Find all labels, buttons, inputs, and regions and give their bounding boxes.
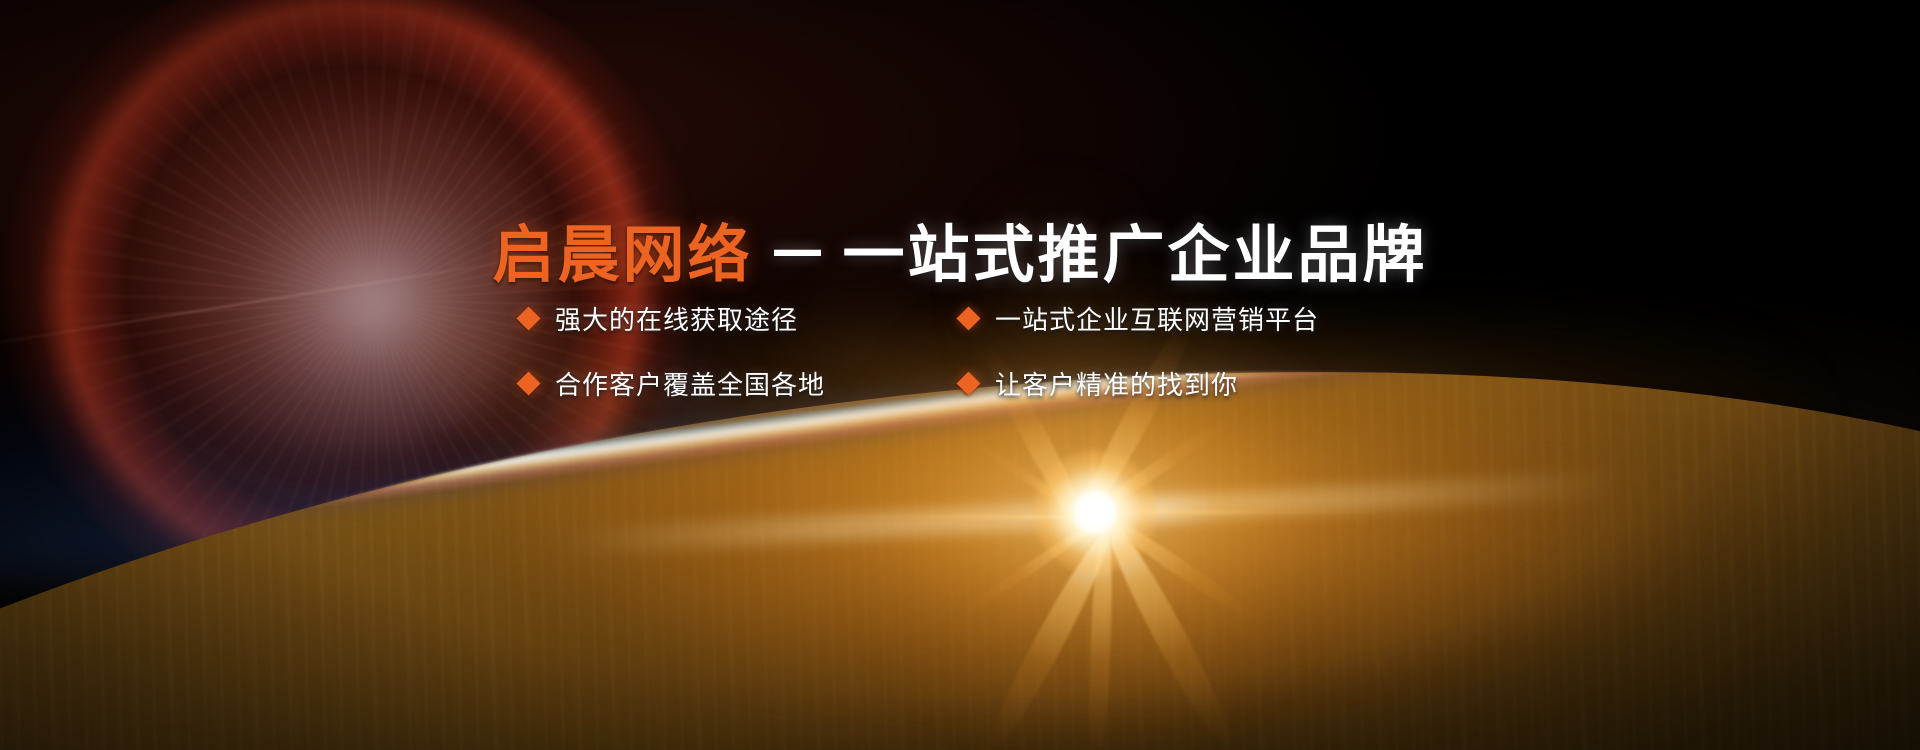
hero-banner: 启晨网络－一站式推广企业品牌 强大的在线获取途径 一站式企业互联网营销平台 合作… (0, 0, 1920, 750)
banner-content: 启晨网络－一站式推广企业品牌 强大的在线获取途径 一站式企业互联网营销平台 合作… (0, 0, 1920, 750)
feature-item-4: 让客户精准的找到你 (960, 365, 1400, 402)
diamond-icon (956, 371, 980, 395)
page-title: 启晨网络－一站式推广企业品牌 (0, 220, 1920, 292)
feature-label: 合作客户覆盖全国各地 (555, 365, 825, 402)
feature-list: 强大的在线获取途径 一站式企业互联网营销平台 合作客户覆盖全国各地 让客户精准的… (520, 300, 1400, 402)
feature-item-1: 强大的在线获取途径 (520, 300, 960, 337)
diamond-icon (956, 306, 980, 330)
brand-name: 启晨网络 (492, 221, 752, 290)
feature-item-2: 一站式企业互联网营销平台 (960, 300, 1400, 337)
diamond-icon (516, 306, 540, 330)
feature-label: 强大的在线获取途径 (555, 300, 798, 337)
title-tagline: 一站式推广企业品牌 (843, 221, 1428, 290)
title-separator: － (752, 221, 842, 290)
feature-label: 一站式企业互联网营销平台 (995, 300, 1319, 337)
feature-item-3: 合作客户覆盖全国各地 (520, 365, 960, 402)
diamond-icon (516, 371, 540, 395)
feature-label: 让客户精准的找到你 (995, 365, 1238, 402)
